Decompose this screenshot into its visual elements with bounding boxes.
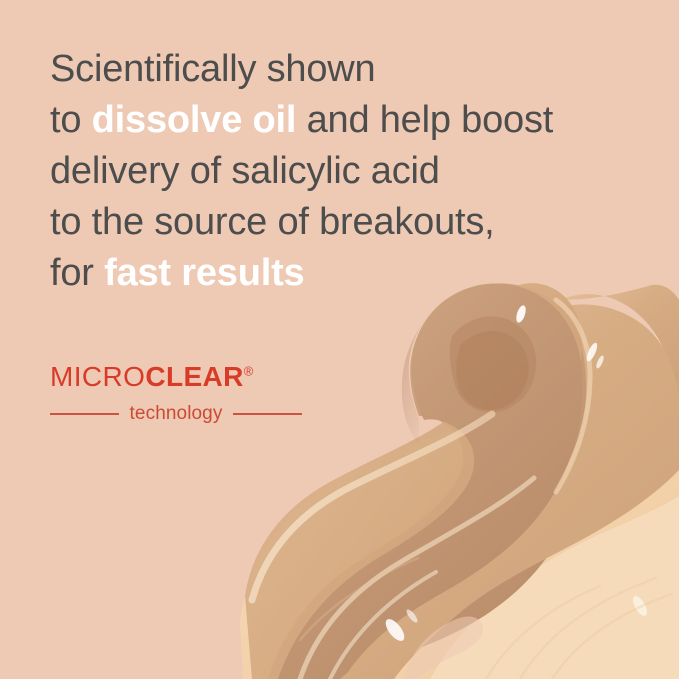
logo-wordmark-micro: MICRO xyxy=(50,361,145,392)
headline-line-1: Scientifically shown xyxy=(50,44,650,95)
logo-wordmark: MICROCLEAR® xyxy=(50,361,302,393)
headline-line-5: for fast results xyxy=(50,248,650,299)
registered-trademark-icon: ® xyxy=(244,364,254,379)
headline-line-3: delivery of salicylic acid xyxy=(50,146,650,197)
product-claim-poster: Scientifically shown to dissolve oil and… xyxy=(0,0,679,679)
headline-text: and help boost xyxy=(296,99,553,141)
logo-wordmark-clear: CLEAR xyxy=(145,361,243,392)
headline-claim: Scientifically shown to dissolve oil and… xyxy=(50,44,650,299)
headline-text: to the source of breakouts, xyxy=(50,201,495,243)
headline-line-4: to the source of breakouts, xyxy=(50,197,650,248)
logo-tagline-row: technology xyxy=(50,403,302,425)
microclear-logo: MICROCLEAR® technology xyxy=(50,361,302,425)
headline-text: Scientifically shown xyxy=(50,48,375,90)
headline-text: delivery of salicylic acid xyxy=(50,150,440,192)
logo-rule-left xyxy=(50,413,119,415)
headline-emphasis-fast-results: fast results xyxy=(104,252,304,294)
headline-emphasis-dissolve-oil: dissolve oil xyxy=(92,99,297,141)
headline-text: for xyxy=(50,252,104,294)
logo-rule-right xyxy=(233,413,302,415)
logo-tagline: technology xyxy=(119,403,234,425)
headline-line-2: to dissolve oil and help boost xyxy=(50,95,650,146)
headline-text: to xyxy=(50,99,92,141)
